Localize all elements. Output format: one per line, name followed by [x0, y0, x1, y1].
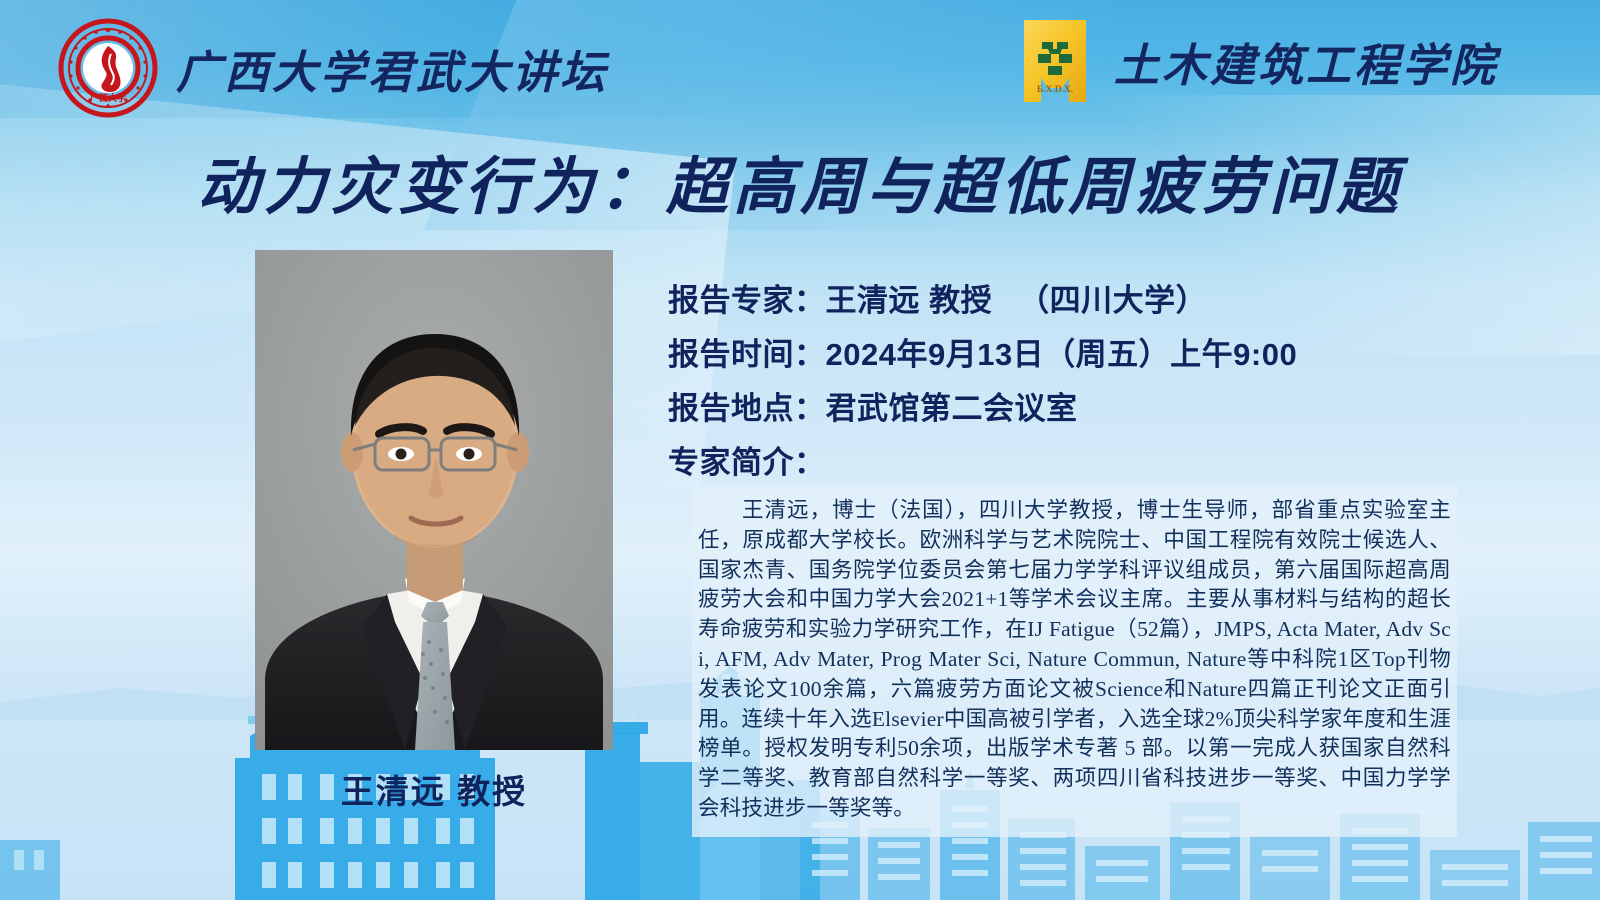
- info-value-time: 2024年9月13日（周五）上午9:00: [826, 337, 1298, 372]
- info-value-speaker: 王清远 教授: [826, 283, 993, 318]
- poster-header: 广西大学 1928 广西大学君武大讲坛: [0, 0, 1600, 118]
- svg-text:广西大学: 广西大学: [90, 92, 126, 103]
- info-row-time: 报告时间：2024年9月13日（周五）上午9:00: [668, 328, 1488, 382]
- speaker-bio-text: 王清远，博士（法国），四川大学教授，博士生导师，部省重点实验室主任，原成都大学校…: [698, 496, 1451, 824]
- info-row-speaker: 报告专家：王清远 教授（四川大学）: [668, 274, 1488, 328]
- speaker-bio-box: 王清远，博士（法国），四川大学教授，博士生导师，部省重点实验室主任，原成都大学校…: [692, 487, 1457, 837]
- info-label-speaker: 报告专家：: [668, 283, 826, 318]
- university-brand-label: 广西大学君武大讲坛: [176, 36, 608, 101]
- speaker-portrait: [255, 250, 613, 750]
- info-row-venue: 报告地点：君武馆第二会议室: [668, 382, 1488, 436]
- college-brand-label: 土木建筑工程学院: [1114, 29, 1498, 94]
- info-value-venue: 君武馆第二会议室: [826, 391, 1078, 426]
- lecture-info-block: 报告专家：王清远 教授（四川大学） 报告时间：2024年9月13日（周五）上午9…: [668, 274, 1488, 490]
- info-affiliation-speaker: （四川大学）: [1018, 283, 1207, 318]
- info-label-time: 报告时间：: [668, 337, 826, 372]
- lecture-poster: 广西大学 1928 广西大学君武大讲坛: [0, 0, 1600, 900]
- speaker-portrait-photo: [255, 250, 613, 750]
- info-label-bio: 专家简介：: [668, 445, 826, 480]
- university-brand: 广西大学 1928 广西大学君武大讲坛: [58, 18, 608, 118]
- gxu-red-seal-icon: 广西大学 1928: [58, 18, 158, 118]
- college-logo-caption: Б.X.D.X.: [1037, 85, 1073, 95]
- info-row-bio-heading: 专家简介：: [668, 436, 1488, 490]
- svg-text:1928: 1928: [103, 85, 114, 91]
- page-title: 动力灾变行为：超高周与超低周疲劳问题: [0, 136, 1600, 226]
- college-brand: Б.X.D.X. 土木建筑工程学院: [1012, 16, 1498, 106]
- gxu-civil-engineering-logo-icon: Б.X.D.X.: [1012, 16, 1098, 106]
- info-label-venue: 报告地点：: [668, 391, 826, 426]
- speaker-name-caption: 王清远 教授: [255, 765, 613, 813]
